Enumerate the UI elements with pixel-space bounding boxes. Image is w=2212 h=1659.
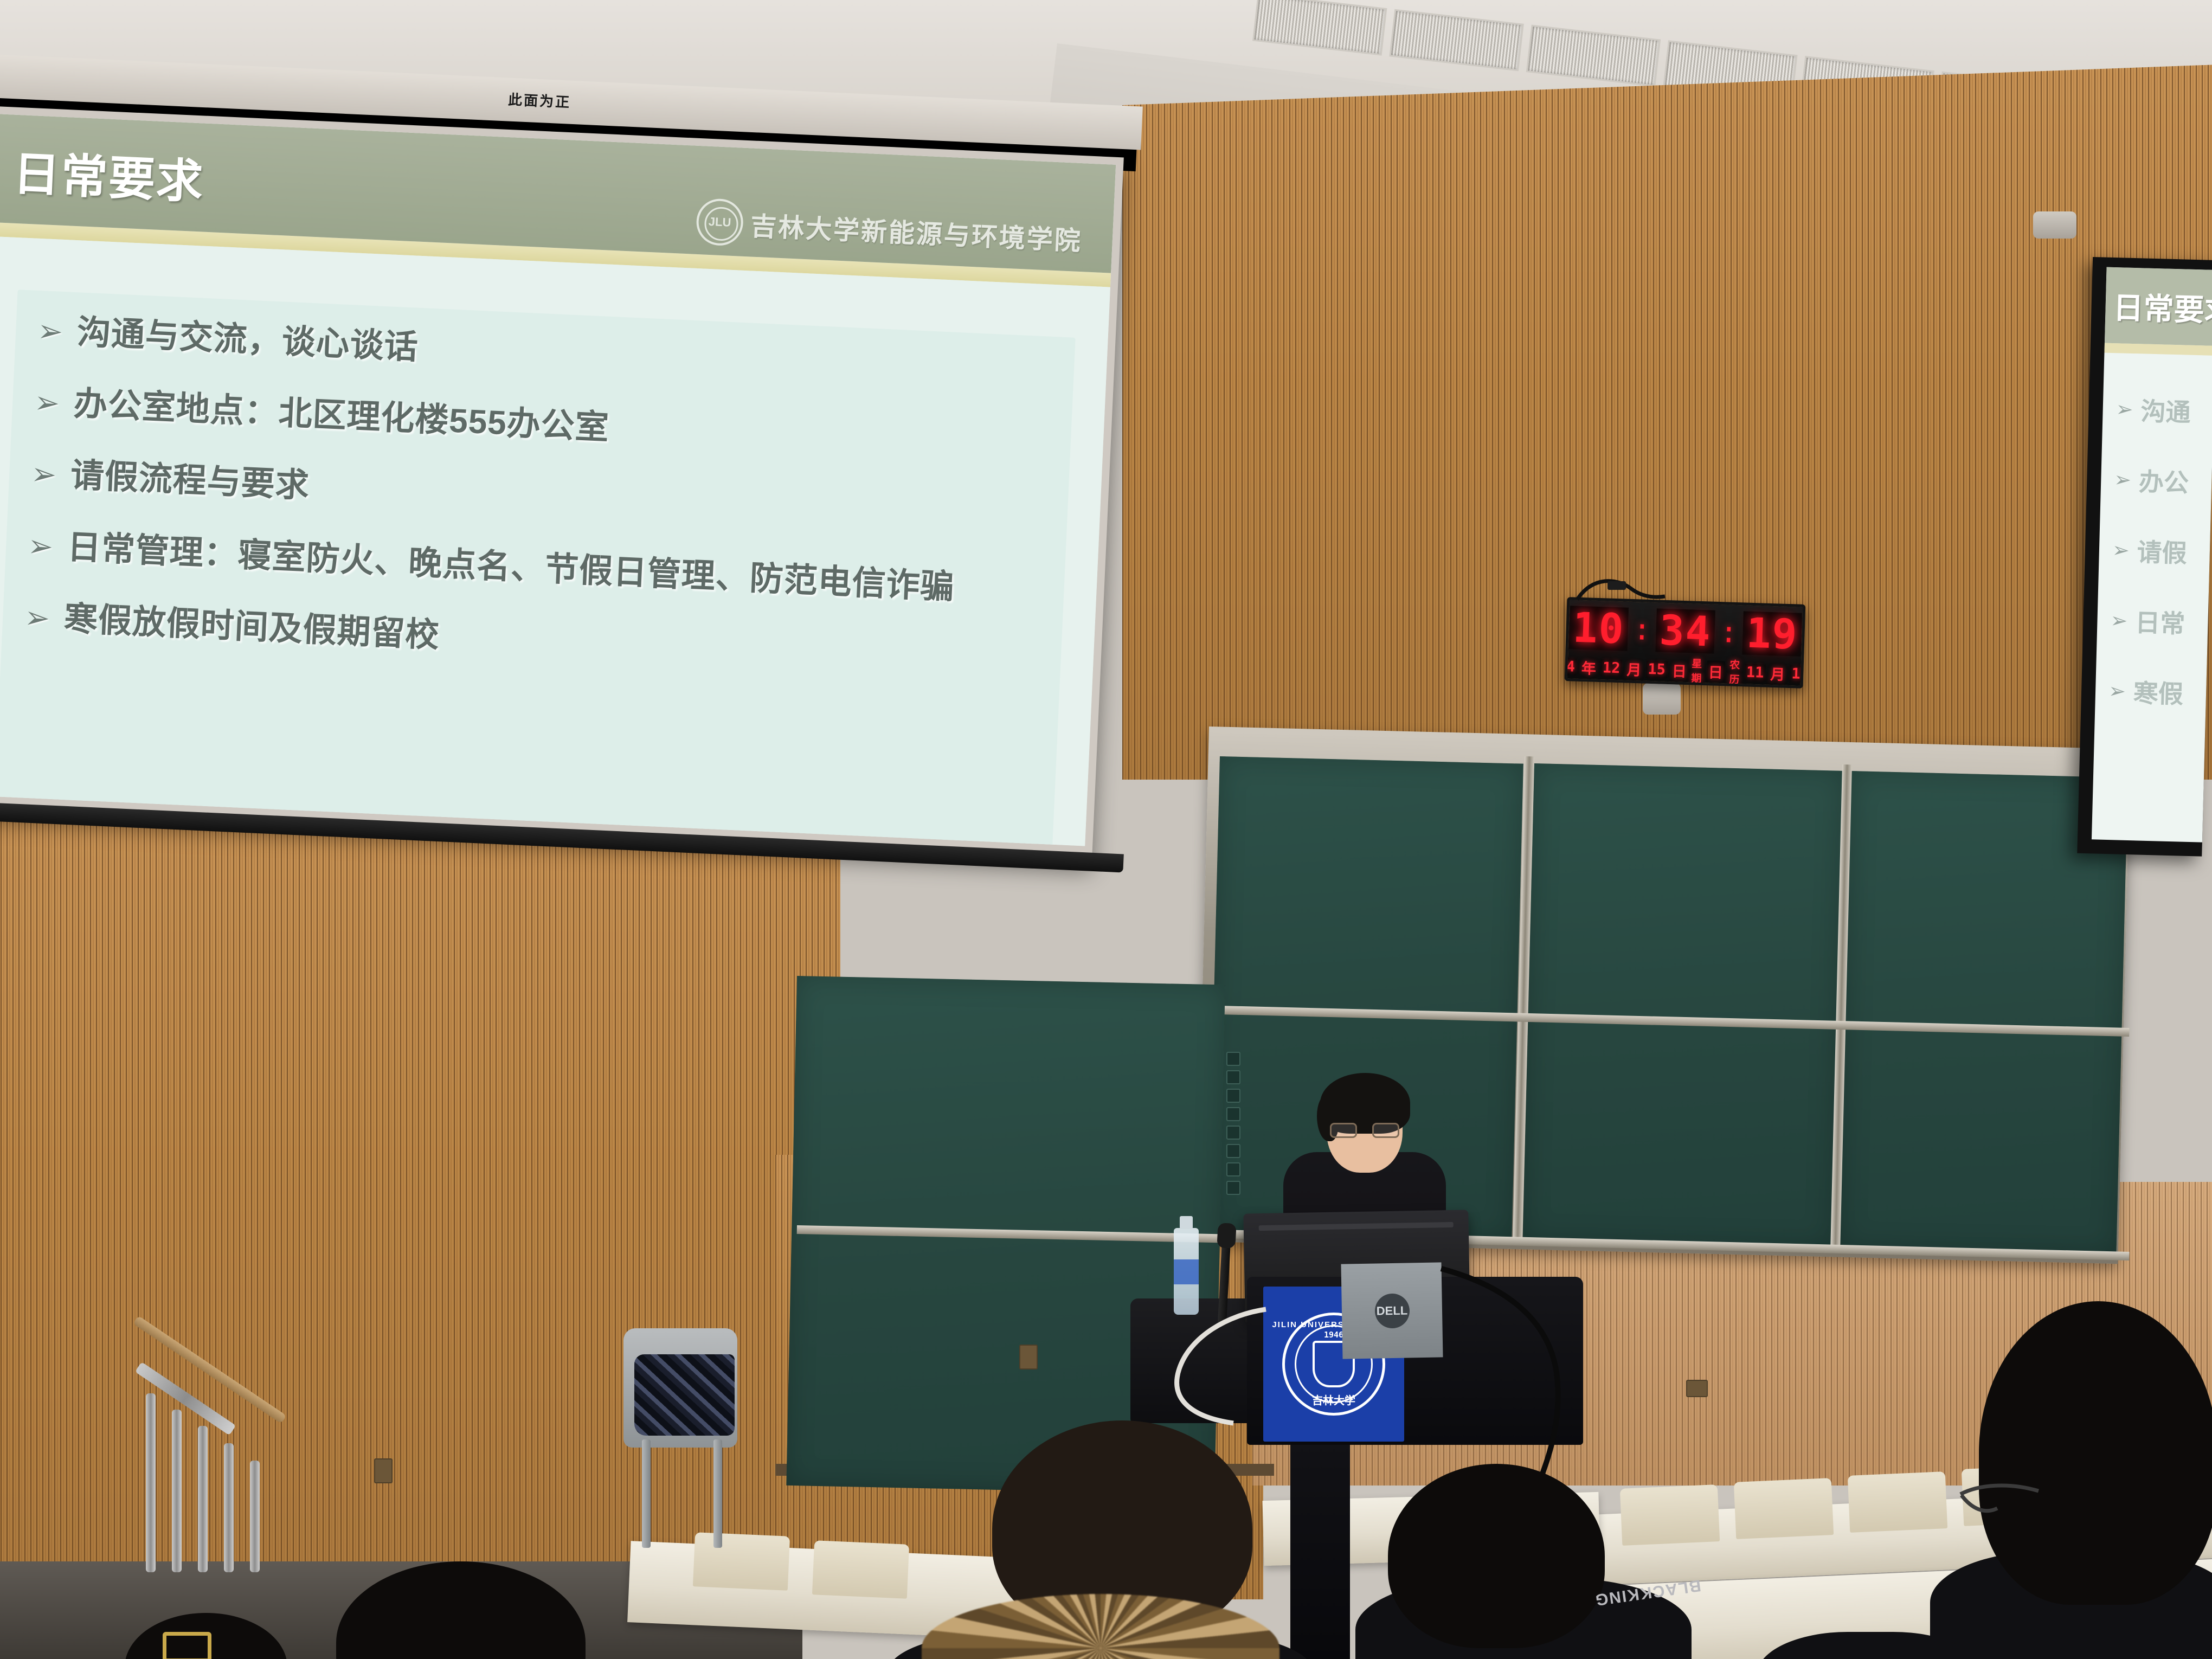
- audience-head: [1979, 1301, 2212, 1605]
- clock-minutes: 34: [1656, 608, 1715, 653]
- blackboard-panel: [1522, 763, 1843, 1248]
- slide-bullet: ➢ 办公室地点：北区理化楼555办公室: [34, 384, 1050, 467]
- secondary-slide-title: 日常要求: [2113, 284, 2212, 331]
- ceiling-vent: [1252, 0, 1387, 56]
- audience-head: [1388, 1464, 1605, 1648]
- wall-outlet[interactable]: [1019, 1345, 1038, 1369]
- bullet-arrow-icon: ➢: [37, 316, 63, 347]
- secondary-screen-surface: 日常要求 ➢ 沟通 ➢ 办公 ➢ 请假: [2092, 267, 2212, 843]
- secondary-projection-screen: 日常要求 ➢ 沟通 ➢ 办公 ➢ 请假: [2077, 257, 2212, 857]
- bullet-arrow-icon: ➢: [2114, 467, 2132, 492]
- slide-bullet-text: 寒假放假时间及假期留校: [63, 600, 440, 654]
- bb-control-icon-down[interactable]: [1226, 1070, 1240, 1084]
- seat[interactable]: [1734, 1478, 1834, 1539]
- clock-power-cable: [1575, 575, 1667, 604]
- institution-logo: JLU 吉林大学新能源与环境学院: [696, 198, 1083, 262]
- bullet-arrow-icon: ➢: [34, 387, 60, 419]
- clock-year-unit: 年: [1581, 657, 1596, 678]
- bullet-arrow-icon: ➢: [2110, 608, 2128, 633]
- secondary-slide-bullet-text: 沟通: [2140, 391, 2191, 428]
- slide-bullet: ➢ 沟通与交流，谈心谈话: [37, 312, 1053, 395]
- slide-content-panel: ➢ 沟通与交流，谈心谈话 ➢ 办公室地点：北区理化楼555办公室 ➢ 请假流程与…: [0, 290, 1076, 846]
- clock-time-display: 10 : 34 : 19: [1568, 600, 1803, 659]
- seat[interactable]: [1848, 1471, 1947, 1533]
- bullet-arrow-icon: ➢: [2108, 679, 2126, 704]
- slide-bullet: ➢ 请假流程与要求: [30, 455, 1046, 538]
- secondary-slide-bullet: ➢ 日常: [2110, 602, 2209, 641]
- clock-lunar-label: 农历: [1729, 657, 1740, 687]
- screen-housing-label: 此面为正: [507, 89, 571, 112]
- stair-handrail: [138, 1328, 295, 1578]
- institution-logo-text: 吉林大学新能源与环境学院: [750, 204, 1083, 258]
- jlu-seal-label: JLU: [708, 215, 731, 230]
- slide-bullet-text: 请假流程与要求: [70, 457, 311, 505]
- jlu-seal-icon: JLU: [696, 198, 744, 247]
- projection-screen: 日常要求 JLU 吉林大学新能源与环境学院 ➢ 沟通与交流，谈心谈话 ➢: [0, 106, 1124, 861]
- blackboard-control-strip[interactable]: [1226, 1052, 1240, 1195]
- secondary-slide-bullet-text: 办公: [2138, 462, 2189, 499]
- stool-with-bag: [613, 1328, 748, 1556]
- wall-outlet[interactable]: [374, 1458, 393, 1483]
- clock-weekday-label: 星期: [1691, 655, 1702, 685]
- clock-seconds: 19: [1742, 611, 1802, 656]
- bb-control-icon-up[interactable]: [1226, 1052, 1240, 1066]
- bullet-arrow-icon: ➢: [2115, 397, 2133, 422]
- clock-weekday-value: 日: [1706, 660, 1725, 682]
- slide-bullet-text: 沟通与交流，谈心谈话: [76, 314, 419, 366]
- secondary-slide-body: ➢ 沟通 ➢ 办公 ➢ 请假 ➢ 日常: [2095, 353, 2212, 711]
- secondary-screen-frame: 日常要求 ➢ 沟通 ➢ 办公 ➢ 请假: [2077, 257, 2212, 857]
- clock-hours: 10: [1569, 606, 1629, 651]
- secondary-slide-bullet-text: 请假: [2137, 532, 2188, 569]
- secondary-slide-title-bar: 日常要求: [2105, 267, 2212, 346]
- bb-control-icon-left[interactable]: [1226, 1089, 1240, 1103]
- led-wall-clock: 10 : 34 : 19 2024 年 12 月 15 日 星期 日 农历 11…: [1565, 597, 1806, 689]
- stool-legs: [642, 1439, 723, 1548]
- secondary-slide-bullet: ➢ 办公: [2113, 461, 2212, 500]
- hair-clip: [163, 1632, 211, 1659]
- lectern-column: [1290, 1437, 1350, 1659]
- bb-control-icon-eraser[interactable]: [1226, 1162, 1240, 1176]
- bullet-arrow-icon: ➢: [30, 459, 57, 490]
- bottle-label: [1174, 1259, 1199, 1284]
- clock-lunar-month: 11: [1744, 664, 1765, 681]
- slide-title: 日常要求: [12, 135, 205, 211]
- seat[interactable]: [812, 1540, 909, 1599]
- clock-month-unit: 月: [1626, 658, 1642, 679]
- ceiling-speaker: [2033, 211, 2076, 239]
- clock-colon: :: [1633, 615, 1651, 645]
- bb-control-icon-pencil[interactable]: [1226, 1144, 1240, 1158]
- bullet-arrow-icon: ➢: [24, 602, 50, 633]
- ceiling-speaker: [1643, 683, 1681, 715]
- bb-control-icon-right[interactable]: [1226, 1107, 1240, 1121]
- secondary-slide-bullet-text: 日常: [2135, 603, 2186, 640]
- wall-outlet[interactable]: [1686, 1380, 1708, 1397]
- slide-bullet-text: 办公室地点：北区理化楼555办公室: [73, 385, 610, 447]
- secondary-slide-bullet: ➢ 沟通: [2115, 391, 2212, 429]
- slide-bullet: ➢ 寒假放假时间及假期留校: [24, 599, 1040, 681]
- bullet-arrow-icon: ➢: [27, 530, 54, 562]
- desk-cable: [1130, 1298, 1293, 1439]
- slide-bullet-text: 日常管理：寝室防火、晚点名、节假日管理、防范电信诈骗: [67, 529, 955, 606]
- bb-control-icon-play[interactable]: [1226, 1126, 1240, 1140]
- clock-lunar-month-unit: 月: [1770, 662, 1785, 684]
- clock-year: 2024: [1565, 657, 1577, 675]
- clock-day-unit: 日: [1671, 659, 1687, 681]
- camouflage-bag: [634, 1354, 735, 1436]
- clock-month: 12: [1600, 659, 1622, 677]
- clock-lunar-day: 15: [1790, 665, 1805, 683]
- laptop[interactable]: DELL: [1341, 1262, 1443, 1359]
- secondary-slide-bullet: ➢ 请假: [2112, 532, 2210, 570]
- presenter-glasses: [1330, 1123, 1399, 1139]
- emblem-chinese-name: 吉林大学: [1312, 1392, 1355, 1407]
- slide-body: ➢ 沟通与交流，谈心谈话 ➢ 办公室地点：北区理化楼555办公室 ➢ 请假流程与…: [0, 236, 1110, 846]
- lecture-hall-photo: 10 : 34 : 19 2024 年 12 月 15 日 星期 日 农历 11…: [0, 0, 2212, 1659]
- dell-logo-icon: DELL: [1374, 1293, 1410, 1328]
- eyeglasses-icon: [1957, 1475, 2044, 1534]
- presentation-slide: 日常要求 JLU 吉林大学新能源与环境学院 ➢ 沟通与交流，谈心谈话 ➢: [0, 114, 1116, 846]
- bullet-arrow-icon: ➢: [2112, 538, 2130, 563]
- secondary-slide-bullet-text: 寒假: [2133, 673, 2184, 710]
- emblem-year: 1946: [1324, 1330, 1343, 1340]
- bb-control-icon-power[interactable]: [1226, 1181, 1240, 1195]
- slide-bullet: ➢ 日常管理：寝室防火、晚点名、节假日管理、防范电信诈骗: [27, 527, 1043, 610]
- clock-colon: :: [1720, 618, 1738, 647]
- secondary-slide-bullet: ➢ 寒假: [2108, 673, 2207, 711]
- clock-day: 15: [1646, 660, 1667, 678]
